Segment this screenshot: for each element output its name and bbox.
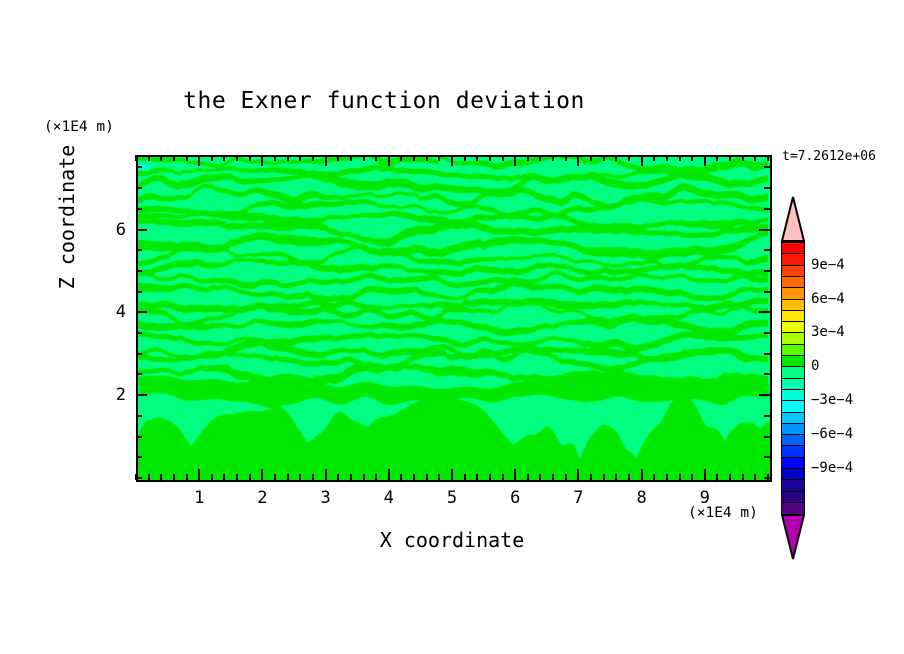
x-tick-minor-top <box>173 155 175 161</box>
x-tick-minor-top <box>476 155 478 161</box>
x-tick-minor-top <box>742 155 744 161</box>
x-tick-minor <box>173 474 175 480</box>
y-tick-major <box>136 311 147 313</box>
colorbar-over-arrow <box>781 196 805 242</box>
x-tick-minor <box>489 474 491 480</box>
x-tick-minor <box>337 474 339 480</box>
x-tick-minor <box>527 474 529 480</box>
x-tick-minor-top <box>716 155 718 161</box>
y-tick-major-right <box>759 394 770 396</box>
x-tick-minor <box>400 474 402 480</box>
x-tick-minor-top <box>691 155 693 161</box>
x-tick-minor <box>565 474 567 480</box>
x-tick-minor-top <box>679 155 681 161</box>
x-tick-label: 4 <box>374 488 404 508</box>
x-tick-label: 5 <box>437 488 467 508</box>
x-tick-major-top <box>514 155 516 166</box>
x-tick-major <box>388 469 390 480</box>
x-tick-minor <box>186 474 188 480</box>
x-axis-title: X coordinate <box>136 528 768 552</box>
x-tick-major <box>514 469 516 480</box>
x-tick-minor <box>502 474 504 480</box>
x-tick-minor-top <box>603 155 605 161</box>
y-tick-minor <box>136 332 142 334</box>
y-tick-minor <box>136 456 142 458</box>
x-tick-major <box>641 469 643 480</box>
time-annotation: t=7.2612e+06 <box>782 149 876 164</box>
x-tick-minor <box>312 474 314 480</box>
y-tick-major <box>136 394 147 396</box>
x-tick-major <box>198 469 200 480</box>
y-tick-label: 6 <box>96 220 126 240</box>
x-tick-minor-top <box>426 155 428 161</box>
x-tick-minor-top <box>400 155 402 161</box>
y-tick-minor <box>136 291 142 293</box>
y-tick-minor <box>136 436 142 438</box>
y-tick-minor <box>136 353 142 355</box>
x-tick-minor <box>375 474 377 480</box>
x-tick-minor-top <box>223 155 225 161</box>
x-tick-minor-top <box>186 155 188 161</box>
x-tick-minor <box>754 474 756 480</box>
x-tick-minor-top <box>312 155 314 161</box>
x-tick-label: 2 <box>247 488 277 508</box>
x-tick-minor <box>413 474 415 480</box>
x-tick-minor-top <box>148 155 150 161</box>
x-tick-major-top <box>641 155 643 166</box>
x-tick-label: 1 <box>184 488 214 508</box>
y-tick-minor-right <box>764 291 770 293</box>
x-tick-minor-top <box>464 155 466 161</box>
chart-root: the Exner function deviation (×1E4 m) (×… <box>0 0 904 654</box>
y-tick-label: 2 <box>96 385 126 405</box>
x-tick-minor-top <box>438 155 440 161</box>
y-tick-minor <box>136 249 142 251</box>
y-tick-minor-right <box>764 187 770 189</box>
y-tick-minor-right <box>764 353 770 355</box>
x-tick-minor <box>211 474 213 480</box>
x-tick-major-top <box>198 155 200 166</box>
plot-area <box>136 155 772 482</box>
x-tick-minor <box>742 474 744 480</box>
x-tick-minor <box>590 474 592 480</box>
x-tick-minor-top <box>375 155 377 161</box>
colorbar-label: −3e−4 <box>811 392 853 408</box>
x-tick-minor-top <box>135 155 137 161</box>
x-tick-minor-top <box>299 155 301 161</box>
y-tick-major-right <box>759 229 770 231</box>
x-tick-major <box>261 469 263 480</box>
x-tick-minor-top <box>337 155 339 161</box>
x-tick-minor-top <box>666 155 668 161</box>
y-tick-minor <box>136 187 142 189</box>
x-tick-minor-top <box>565 155 567 161</box>
y-tick-minor-right <box>764 373 770 375</box>
x-tick-minor <box>603 474 605 480</box>
x-tick-minor <box>679 474 681 480</box>
x-tick-minor <box>476 474 478 480</box>
x-tick-major-top <box>325 155 327 166</box>
y-tick-minor-right <box>764 270 770 272</box>
x-tick-minor-top <box>249 155 251 161</box>
x-tick-minor <box>148 474 150 480</box>
x-tick-minor <box>539 474 541 480</box>
x-tick-major <box>577 469 579 480</box>
x-tick-minor <box>552 474 554 480</box>
x-tick-minor <box>363 474 365 480</box>
x-tick-minor <box>666 474 668 480</box>
x-tick-minor <box>716 474 718 480</box>
x-tick-label: 8 <box>627 488 657 508</box>
x-tick-minor-top <box>539 155 541 161</box>
x-tick-minor <box>299 474 301 480</box>
y-tick-minor <box>136 373 142 375</box>
x-tick-minor-top <box>628 155 630 161</box>
x-tick-minor <box>249 474 251 480</box>
x-tick-minor-top <box>653 155 655 161</box>
x-tick-minor-top <box>211 155 213 161</box>
y-tick-minor-right <box>764 477 770 479</box>
x-tick-minor-top <box>754 155 756 161</box>
x-tick-minor-top <box>502 155 504 161</box>
colorbar-label: −9e−4 <box>811 460 853 476</box>
y-tick-minor-right <box>764 249 770 251</box>
x-tick-minor <box>160 474 162 480</box>
y-tick-minor-right <box>764 436 770 438</box>
page-title: the Exner function deviation <box>0 88 768 114</box>
y-tick-minor <box>136 477 142 479</box>
x-tick-major-top <box>261 155 263 166</box>
x-tick-major <box>325 469 327 480</box>
y-tick-minor <box>136 166 142 168</box>
x-tick-minor-top <box>527 155 529 161</box>
x-tick-minor <box>274 474 276 480</box>
x-tick-minor-top <box>274 155 276 161</box>
contour-field <box>138 157 770 480</box>
y-axis-title: Z coordinate <box>55 132 79 302</box>
x-tick-major-top <box>577 155 579 166</box>
x-tick-label: 7 <box>563 488 593 508</box>
y-tick-major-right <box>759 311 770 313</box>
colorbar-label: −6e−4 <box>811 426 853 442</box>
x-tick-minor-top <box>160 155 162 161</box>
x-tick-major-top <box>704 155 706 166</box>
x-tick-minor-top <box>363 155 365 161</box>
y-tick-minor-right <box>764 332 770 334</box>
y-tick-minor-right <box>764 456 770 458</box>
x-tick-major-top <box>388 155 390 166</box>
x-tick-minor <box>438 474 440 480</box>
x-tick-minor-top <box>552 155 554 161</box>
x-tick-label: 9 <box>690 488 720 508</box>
colorbar-label: 0 <box>811 358 819 374</box>
x-tick-minor-top <box>729 155 731 161</box>
x-tick-minor-top <box>590 155 592 161</box>
colorbar-label: 3e−4 <box>811 324 845 340</box>
x-tick-label: 3 <box>311 488 341 508</box>
x-tick-minor-top <box>287 155 289 161</box>
x-tick-major-top <box>451 155 453 166</box>
x-tick-minor-top <box>413 155 415 161</box>
y-tick-minor <box>136 415 142 417</box>
x-tick-minor <box>691 474 693 480</box>
x-tick-minor-top <box>767 155 769 161</box>
x-tick-minor <box>426 474 428 480</box>
y-tick-major <box>136 229 147 231</box>
x-tick-minor <box>464 474 466 480</box>
y-tick-label: 4 <box>96 302 126 322</box>
x-tick-label: 6 <box>500 488 530 508</box>
colorbar-label: 9e−4 <box>811 257 845 273</box>
colorbar-label: 6e−4 <box>811 291 845 307</box>
x-tick-minor <box>350 474 352 480</box>
y-tick-minor <box>136 270 142 272</box>
x-tick-minor <box>236 474 238 480</box>
y-tick-minor <box>136 208 142 210</box>
x-tick-minor-top <box>489 155 491 161</box>
x-tick-minor-top <box>236 155 238 161</box>
colorbar-band <box>781 502 805 515</box>
x-tick-major <box>704 469 706 480</box>
y-tick-minor-right <box>764 166 770 168</box>
x-tick-minor <box>223 474 225 480</box>
x-tick-minor-top <box>615 155 617 161</box>
x-tick-major <box>451 469 453 480</box>
y-tick-minor-right <box>764 208 770 210</box>
x-tick-minor <box>628 474 630 480</box>
x-tick-minor <box>729 474 731 480</box>
x-tick-minor <box>653 474 655 480</box>
colorbar-under-arrow <box>781 514 805 560</box>
x-tick-minor <box>615 474 617 480</box>
x-tick-minor-top <box>350 155 352 161</box>
y-tick-minor-right <box>764 415 770 417</box>
x-tick-minor <box>287 474 289 480</box>
